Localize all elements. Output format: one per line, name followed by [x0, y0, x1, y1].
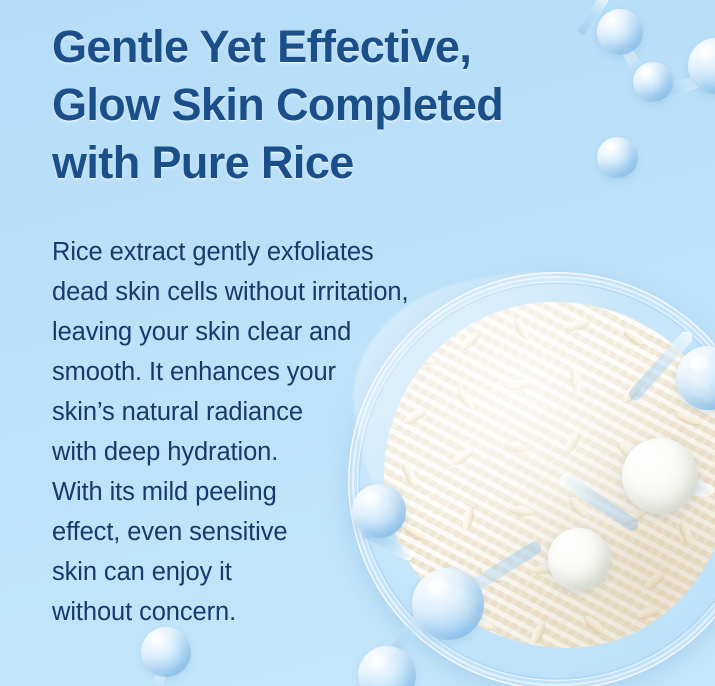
- body-line-7: With its mild peeling: [52, 472, 452, 512]
- body-line-9: skin can enjoy it: [52, 552, 452, 592]
- headline-line-2: Glow Skin Completed: [52, 76, 692, 134]
- body-line-2: dead skin cells without irritation,: [52, 272, 452, 312]
- body-line-4: smooth. It enhances your: [52, 352, 452, 392]
- body-line-6: with deep hydration.: [52, 432, 452, 472]
- body-line-10: without concern.: [52, 592, 452, 632]
- body-line-1: Rice extract gently exfoliates: [52, 232, 452, 272]
- banner-content: Gentle Yet Effective, Glow Skin Complete…: [0, 0, 715, 686]
- body-line-5: skin’s natural radiance: [52, 392, 452, 432]
- body-paragraph: Rice extract gently exfoliates dead skin…: [52, 232, 452, 632]
- body-line-8: effect, even sensitive: [52, 512, 452, 552]
- promo-banner: Gentle Yet Effective, Glow Skin Complete…: [0, 0, 715, 686]
- headline-line-1: Gentle Yet Effective,: [52, 18, 692, 76]
- headline-line-3: with Pure Rice: [52, 134, 692, 192]
- page-title: Gentle Yet Effective, Glow Skin Complete…: [52, 18, 692, 192]
- body-line-3: leaving your skin clear and: [52, 312, 452, 352]
